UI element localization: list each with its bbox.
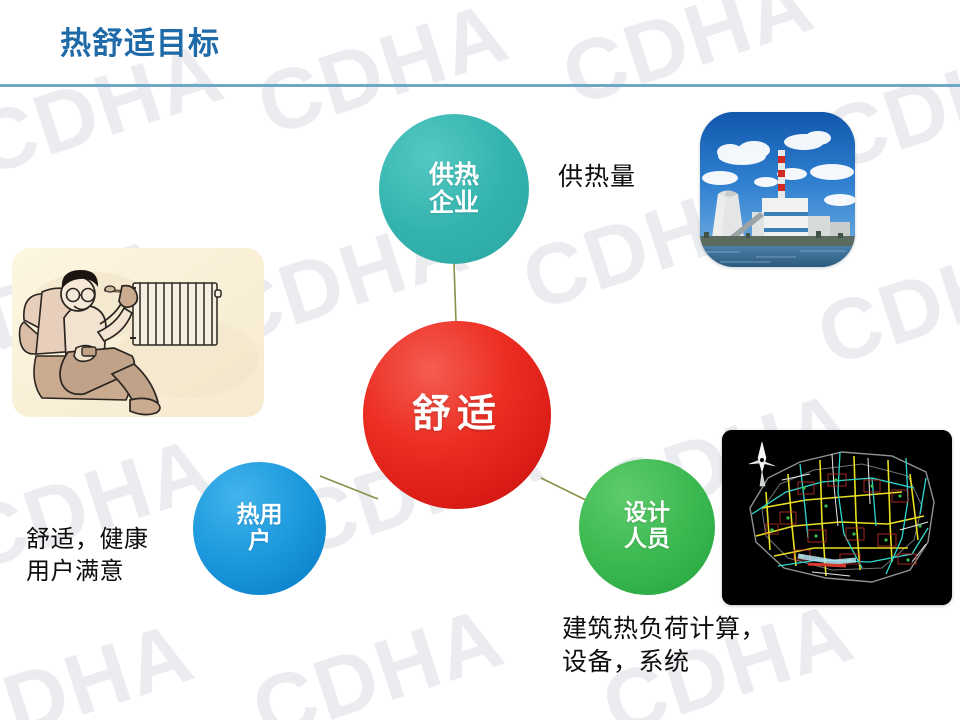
caption-user-benefit: 舒适，健康 用户满意 (26, 524, 149, 587)
node-heat-user-label: 热用 户 (237, 503, 283, 555)
caption-design-work: 建筑热负荷计算， 设备，系统 (562, 612, 766, 678)
node-designer-label: 设计 人员 (624, 501, 670, 553)
node-designer[interactable]: 设计 人员 (579, 459, 715, 595)
node-heating-enterprise-label: 供热 企业 (429, 161, 479, 217)
connector-bottom-left (320, 476, 378, 499)
power-plant-svg (700, 112, 855, 267)
page-title: 热舒适目标 (60, 18, 220, 63)
header-divider (0, 84, 960, 87)
slide-canvas: CDHA CDHA CDHA CDHA CDHA CDHA CDHA CDHA … (0, 0, 960, 720)
cad-district-heating-network-image (722, 430, 952, 605)
watermark-text: CDHA (241, 588, 515, 720)
node-comfort-center[interactable]: 舒适 (363, 321, 551, 509)
node-heating-enterprise[interactable]: 供热 企业 (379, 114, 529, 264)
caption-heat-supply: 供热量 (558, 160, 636, 193)
thermal-power-plant-image (700, 112, 855, 267)
radiator-cartoon-svg (12, 248, 264, 417)
city-network-map-svg (722, 430, 952, 605)
watermark-text: CDHA (0, 603, 205, 720)
connector-top (454, 264, 456, 322)
man-in-armchair-beside-radiator-image (12, 248, 264, 417)
slide-header: 热舒适目标 (0, 0, 960, 84)
node-heat-user[interactable]: 热用 户 (193, 462, 326, 595)
node-comfort-label: 舒适 (412, 393, 502, 437)
